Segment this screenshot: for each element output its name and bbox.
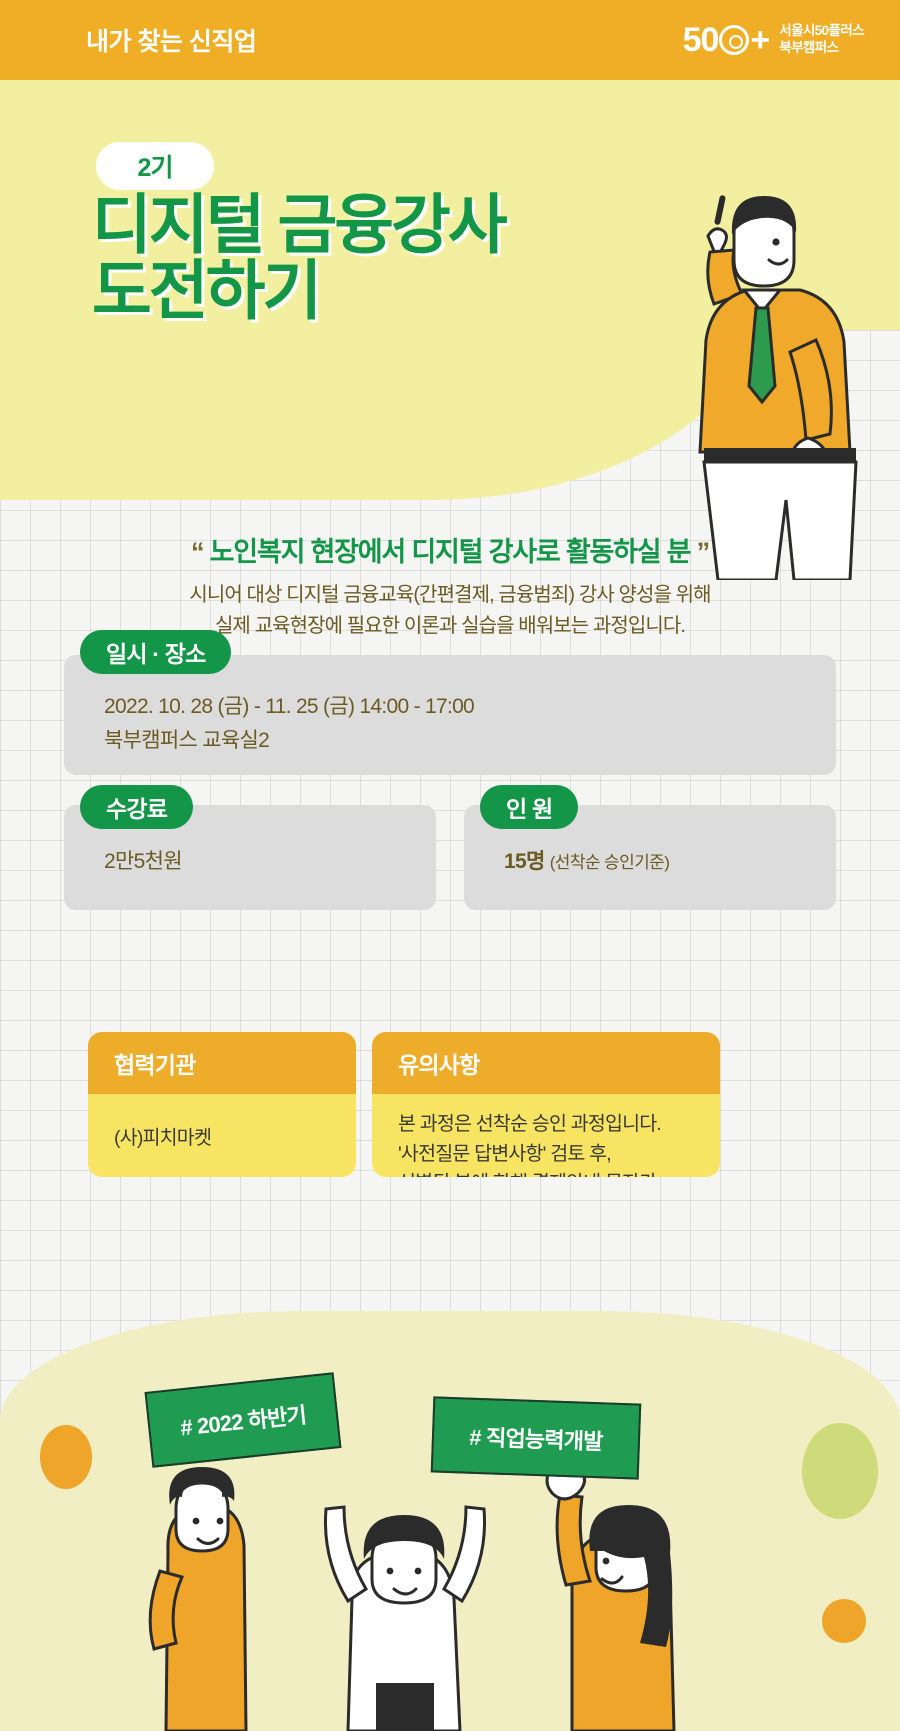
partner-name: (사)피치마켓 xyxy=(114,1124,334,1154)
notice-line-1: 본 과정은 선착순 승인 과정입니다. xyxy=(398,1110,698,1140)
page-title-line-1: 디지털 금융강사 xyxy=(92,188,505,261)
brand-plus-sign: + xyxy=(750,23,769,57)
notice-card: 유의사항 본 과정은 선착순 승인 과정입니다. '사전질문 답변사항' 검토 … xyxy=(372,1032,720,1177)
page-title: 디지털 금융강사 도전하기 xyxy=(92,192,505,325)
schedule-datetime: 2022. 10. 28 (금) - 11. 25 (금) 14:00 - 17… xyxy=(104,690,824,724)
description-line-1: 시니어 대상 디지털 금융교육(간편결제, 금융범죄) 강사 양성을 위해 xyxy=(0,580,900,611)
schedule-label: 일시 · 장소 xyxy=(80,630,231,674)
tagline: “ 노인복지 현장에서 디지털 강사로 활동하실 분 ” xyxy=(0,530,900,569)
poster: 내가 찾는 신직업 50 + 서울시50플러스 북부캠퍼스 2기 디지털 금융강… xyxy=(0,0,900,1731)
sign-skill-text: # 직업능력개발 xyxy=(469,1420,603,1457)
notice-card-title: 유의사항 xyxy=(372,1032,720,1094)
header-title: 내가 찾는 신직업 xyxy=(86,22,256,58)
fee-amount: 2만5천원 xyxy=(104,845,424,879)
cohort-badge-label: 2기 xyxy=(138,148,173,184)
brand-ring-icon xyxy=(719,25,749,55)
quote-close-mark: ” xyxy=(697,537,709,567)
man-pointing-illustration xyxy=(648,190,878,580)
notice-line-2: '사전질문 답변사항' 검토 후, xyxy=(398,1140,698,1170)
schedule-location: 북부캠퍼스 교육실2 xyxy=(104,724,824,758)
partner-card-title: 협력기관 xyxy=(88,1032,356,1094)
brand-line-1: 서울시50플러스 xyxy=(779,23,864,40)
cohort-badge: 2기 xyxy=(96,142,214,190)
schedule-content: 2022. 10. 28 (금) - 11. 25 (금) 14:00 - 17… xyxy=(104,690,824,757)
brand-mark-number: 50 xyxy=(683,23,719,57)
sign-year-text: # 2022 하반기 xyxy=(179,1397,308,1442)
partner-card-body: (사)피치마켓 xyxy=(88,1094,356,1174)
bottom-illustration: # 캠퍼스 방문시 방역수칙 준수 xyxy=(0,1251,900,1731)
page-title-line-2: 도전하기 xyxy=(92,258,505,324)
notice-card-body: 본 과정은 선착순 승인 과정입니다. '사전질문 답변사항' 검토 후, 선별… xyxy=(372,1094,720,1177)
brand-line-2: 북부캠퍼스 xyxy=(779,40,864,57)
tagline-text: 노인복지 현장에서 디지털 강사로 활동하실 분 xyxy=(210,537,691,567)
capacity-value: 15명 xyxy=(504,850,545,873)
fifty-plus-logo-icon: 50 + xyxy=(683,23,770,57)
three-people-illustration xyxy=(0,1251,900,1731)
header-bar: 내가 찾는 신직업 50 + 서울시50플러스 북부캠퍼스 xyxy=(0,0,900,80)
quote-open-mark: “ xyxy=(191,537,203,567)
brand-logo: 50 + 서울시50플러스 북부캠퍼스 xyxy=(683,23,864,57)
hero-section: 2기 디지털 금융강사 도전하기 xyxy=(0,80,900,520)
fee-content: 2만5천원 xyxy=(104,845,424,879)
partner-card: 협력기관 (사)피치마켓 xyxy=(88,1032,356,1177)
capacity-label: 인 원 xyxy=(480,785,578,829)
capacity-note: (선착순 승인기준) xyxy=(550,853,670,872)
notice-line-3: 선별된 분에 한해 결제안내 문자가 xyxy=(398,1169,698,1177)
sign-skill-hashtag: # 직업능력개발 xyxy=(431,1396,642,1479)
brand-text: 서울시50플러스 북부캠퍼스 xyxy=(779,23,864,57)
fee-label: 수강료 xyxy=(80,785,193,829)
capacity-content: 15명 (선착순 승인기준) xyxy=(504,845,824,879)
